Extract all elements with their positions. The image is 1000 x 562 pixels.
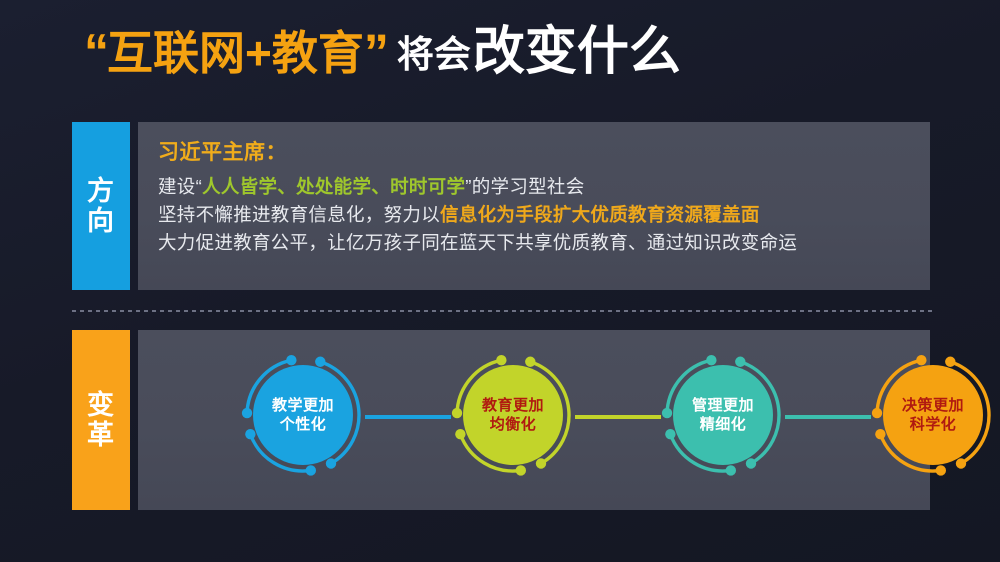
page-title: “ 互联网+教育 ” 将会 改变什么 bbox=[84, 26, 681, 78]
node-decision-label-1: 决策更加 bbox=[902, 396, 964, 415]
section-tab-change[interactable]: 变革 bbox=[72, 330, 130, 510]
quote-segment-plain: ”的学习型社会 bbox=[465, 176, 584, 197]
node-teaching[interactable]: 教学更加个性化 bbox=[241, 353, 365, 477]
quote-lines: 建设“人人皆学、处处能学、时时可学”的学习型社会坚持不懈推进教育信息化，努力以信… bbox=[158, 173, 930, 257]
quote-line: 坚持不懈推进教育信息化，努力以信息化为手段扩大优质教育资源覆盖面 bbox=[158, 201, 930, 229]
node-education[interactable]: 教育更加均衡化 bbox=[451, 353, 575, 477]
quote-speaker: 习近平主席： bbox=[158, 136, 930, 166]
section-change: 变革 教学更加个性化教育更加均衡化管理更加精细化决策更加科学化 bbox=[72, 330, 930, 510]
quote-segment-plain: 坚持不懈推进教育信息化，努力以 bbox=[158, 204, 440, 225]
node-decision-disc[interactable]: 决策更加科学化 bbox=[883, 365, 983, 465]
section-tab-change-label: 变革 bbox=[87, 390, 115, 450]
node-management-label-2: 精细化 bbox=[700, 415, 747, 434]
connector-1-2 bbox=[365, 415, 451, 419]
node-education-label-2: 均衡化 bbox=[490, 415, 537, 434]
node-teaching-label-2: 个性化 bbox=[280, 415, 327, 434]
section-change-body: 教学更加个性化教育更加均衡化管理更加精细化决策更加科学化 bbox=[138, 330, 930, 510]
node-decision[interactable]: 决策更加科学化 bbox=[871, 353, 995, 477]
quote-segment-green: 人人皆学、处处能学、时时可学 bbox=[202, 176, 465, 197]
title-quote-open: “ bbox=[84, 27, 107, 77]
slide-canvas: “ 互联网+教育 ” 将会 改变什么 方向 习近平主席： 建设“人人皆学、处处能… bbox=[0, 0, 1000, 562]
node-management-label-1: 管理更加 bbox=[692, 396, 754, 415]
quote-block: 习近平主席： 建设“人人皆学、处处能学、时时可学”的学习型社会坚持不懈推进教育信… bbox=[138, 122, 930, 257]
connector-2-3 bbox=[575, 415, 661, 419]
node-education-disc[interactable]: 教育更加均衡化 bbox=[463, 365, 563, 465]
quote-segment-plain: 大力促进教育公平，让亿万孩子同在蓝天下共享优质教育、通过知识改变命运 bbox=[158, 232, 797, 253]
section-tab-direction[interactable]: 方向 bbox=[72, 122, 130, 290]
node-management-disc[interactable]: 管理更加精细化 bbox=[673, 365, 773, 465]
quote-segment-plain: 建设“ bbox=[158, 176, 202, 197]
node-teaching-label-1: 教学更加 bbox=[272, 396, 334, 415]
node-diagram: 教学更加个性化教育更加均衡化管理更加精细化决策更加科学化 bbox=[138, 330, 930, 510]
quote-line: 建设“人人皆学、处处能学、时时可学”的学习型社会 bbox=[158, 173, 930, 201]
node-management[interactable]: 管理更加精细化 bbox=[661, 353, 785, 477]
title-white-small: 将会 bbox=[397, 36, 471, 73]
node-teaching-disc[interactable]: 教学更加个性化 bbox=[253, 365, 353, 465]
node-decision-label-2: 科学化 bbox=[910, 415, 957, 434]
section-direction: 方向 习近平主席： 建设“人人皆学、处处能学、时时可学”的学习型社会坚持不懈推进… bbox=[72, 122, 930, 290]
quote-line: 大力促进教育公平，让亿万孩子同在蓝天下共享优质教育、通过知识改变命运 bbox=[158, 229, 930, 257]
node-education-label-1: 教育更加 bbox=[482, 396, 544, 415]
section-divider bbox=[72, 310, 932, 312]
quote-segment-gold: 信息化为手段扩大优质教育资源覆盖面 bbox=[440, 204, 760, 225]
title-quote-close: ” bbox=[364, 27, 387, 77]
connector-3-4 bbox=[785, 415, 871, 419]
section-tab-direction-label: 方向 bbox=[87, 176, 115, 236]
title-white-big: 改变什么 bbox=[473, 26, 681, 78]
title-orange-text: 互联网+教育 bbox=[107, 30, 364, 76]
section-direction-body: 习近平主席： 建设“人人皆学、处处能学、时时可学”的学习型社会坚持不懈推进教育信… bbox=[138, 122, 930, 290]
